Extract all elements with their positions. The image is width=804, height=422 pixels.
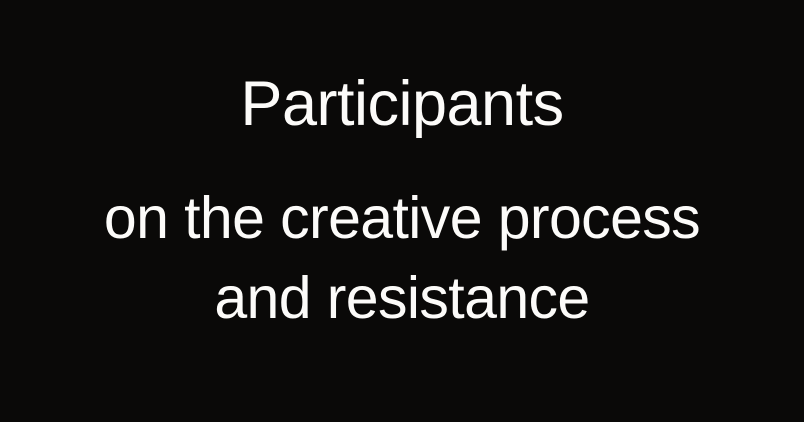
subtitle-block: on the creative process and resistance (104, 178, 700, 338)
title-card: Participants on the creative process and… (0, 0, 804, 422)
headline: Participants (240, 73, 563, 136)
subtitle-line-2: and resistance (214, 258, 589, 338)
subtitle-line-1: on the creative process (104, 178, 700, 258)
title-card-content: Participants on the creative process and… (0, 0, 804, 338)
